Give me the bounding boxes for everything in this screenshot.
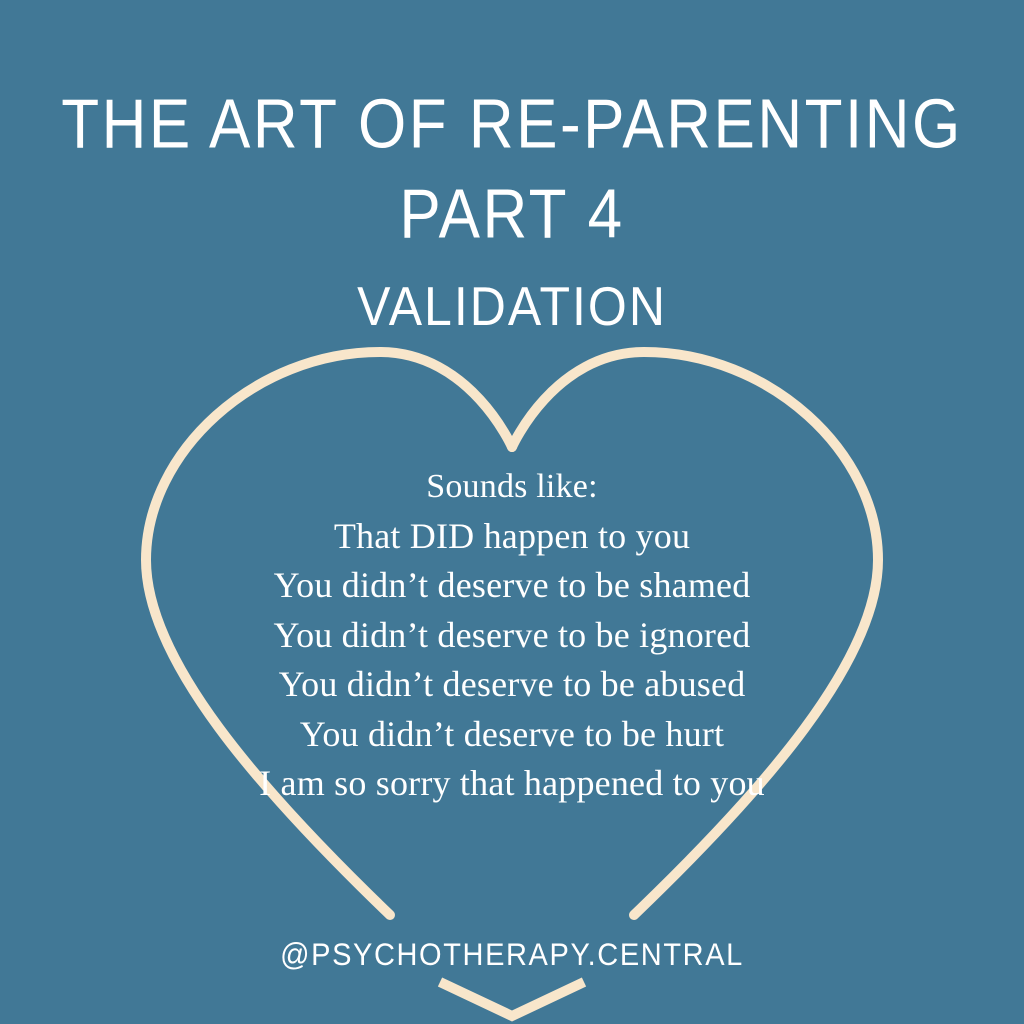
page-title-line-1: THE ART OF RE-PARENTING	[0, 78, 1024, 172]
body-line: You didn’t deserve to be ignored	[0, 611, 1024, 661]
heart-bottom-tip-path	[440, 982, 584, 1016]
body-text-block: Sounds like: That DID happen to you You …	[0, 462, 1024, 809]
page-title-line-2: PART 4	[0, 168, 1024, 262]
body-line: You didn’t deserve to be abused	[0, 660, 1024, 710]
body-line: I am so sorry that happened to you	[0, 759, 1024, 809]
body-line: That DID happen to you	[0, 512, 1024, 562]
social-handle: @PSYCHOTHERAPY.CENTRAL	[0, 938, 1024, 974]
body-line: You didn’t deserve to be hurt	[0, 710, 1024, 760]
body-line: Sounds like:	[0, 462, 1024, 512]
poster-canvas: THE ART OF RE-PARENTING PART 4 VALIDATIO…	[0, 0, 1024, 1024]
heading-block: THE ART OF RE-PARENTING PART 4 VALIDATIO…	[0, 78, 1024, 334]
body-line: You didn’t deserve to be shamed	[0, 561, 1024, 611]
page-subtitle: VALIDATION	[0, 272, 1024, 340]
